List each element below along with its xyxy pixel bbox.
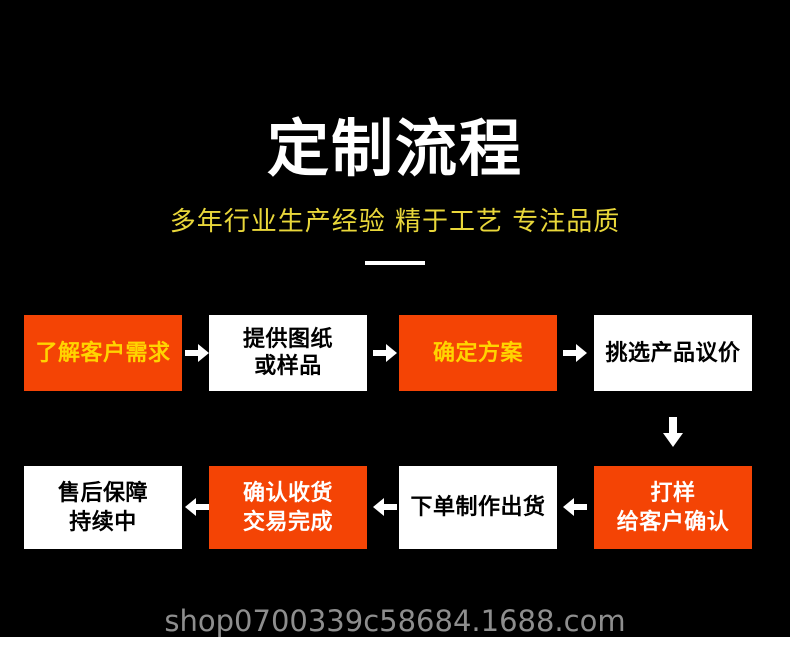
flow-step-label-line1: 售后保障	[58, 479, 148, 508]
flow-step-label-line1: 打样	[650, 479, 695, 508]
flow-step-label-line1: 确认收货	[243, 479, 333, 508]
flow-step-label-line2: 或样品	[254, 353, 322, 380]
flow-row-1: 了解客户需求 提供图纸 或样品 确定方案 挑选产品议价	[0, 315, 790, 391]
flow-step-understand-needs[interactable]: 了解客户需求	[24, 315, 182, 391]
flow-step-order-production-shipping[interactable]: 下单制作出货	[399, 466, 557, 549]
flow-step-label-line2: 持续中	[69, 508, 137, 537]
flow-step-provide-drawings[interactable]: 提供图纸 或样品	[209, 315, 367, 391]
flow-step-label-line1: 提供图纸	[243, 326, 333, 353]
arrow-right-icon	[184, 340, 210, 366]
arrow-left-icon	[372, 494, 398, 520]
arrow-down-icon	[660, 416, 686, 448]
bottom-white-strip	[0, 637, 790, 652]
flow-step-sample-confirmation[interactable]: 打样 给客户确认	[594, 466, 752, 549]
flow-step-label: 了解客户需求	[35, 340, 170, 367]
flow-step-after-sales-support[interactable]: 售后保障 持续中	[24, 466, 182, 549]
customization-process-banner: 定制流程 多年行业生产经验 精于工艺 专注品质 了解客户需求 提供图纸 或样品 …	[0, 0, 790, 652]
flow-step-label: 挑选产品议价	[605, 340, 740, 367]
flow-step-select-product-price[interactable]: 挑选产品议价	[594, 315, 752, 391]
shop-watermark: shop0700339c58684.1688.com	[0, 604, 790, 638]
flow-step-label-line2: 交易完成	[243, 508, 333, 537]
flow-step-label-line2: 给客户确认	[617, 508, 730, 537]
flow-step-label: 下单制作出货	[410, 493, 545, 522]
arrow-left-icon	[562, 494, 588, 520]
page-title: 定制流程	[0, 113, 790, 185]
flow-step-confirm-receipt[interactable]: 确认收货 交易完成	[209, 466, 367, 549]
flow-step-label: 确定方案	[433, 340, 523, 367]
arrow-left-icon	[184, 494, 210, 520]
flow-row-2: 售后保障 持续中 确认收货 交易完成 下单制作出货 打样	[0, 466, 790, 549]
title-divider	[365, 261, 425, 265]
arrow-right-icon	[562, 340, 588, 366]
arrow-right-icon	[372, 340, 398, 366]
flow-step-confirm-plan[interactable]: 确定方案	[399, 315, 557, 391]
page-subtitle: 多年行业生产经验 精于工艺 专注品质	[0, 205, 790, 239]
